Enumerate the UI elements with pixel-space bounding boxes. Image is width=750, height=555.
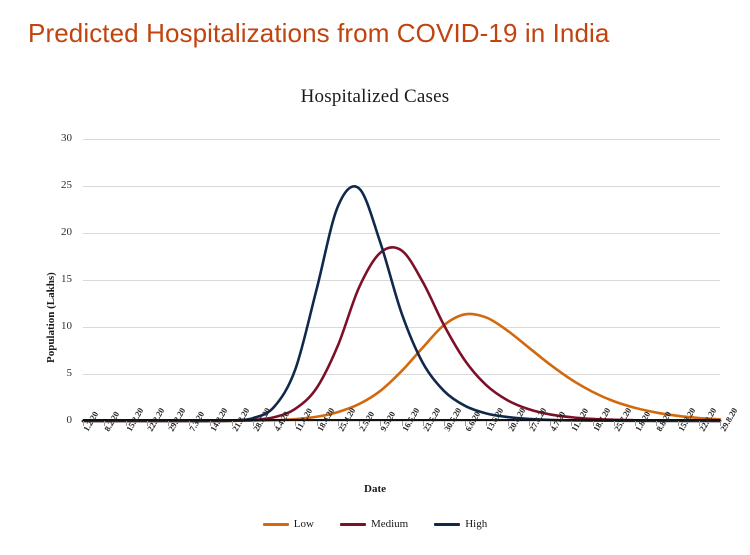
y-axis-tick-label: 0 xyxy=(40,414,72,426)
legend-label: Low xyxy=(294,518,314,530)
series-line-medium xyxy=(83,247,720,421)
y-axis-title: Population (Lakhs) xyxy=(45,272,57,363)
slide-canvas: Predicted Hospitalizations from COVID-19… xyxy=(0,0,750,555)
y-axis-tick-label: 25 xyxy=(40,179,72,191)
series-line-high xyxy=(83,186,720,421)
legend-item-high[interactable]: High xyxy=(434,518,487,530)
chart-legend: LowMediumHigh xyxy=(0,518,750,530)
y-axis-tick-label: 20 xyxy=(40,226,72,238)
chart-series-layer xyxy=(83,139,720,421)
legend-swatch-icon xyxy=(263,523,289,526)
legend-item-medium[interactable]: Medium xyxy=(340,518,408,530)
legend-swatch-icon xyxy=(434,523,460,526)
y-axis-tick-label: 30 xyxy=(40,132,72,144)
legend-label: High xyxy=(465,518,487,530)
legend-swatch-icon xyxy=(340,523,366,526)
plot-area: Population (Lakhs) xyxy=(83,139,720,421)
x-axis-title: Date xyxy=(0,483,750,495)
x-axis-tick-labels: 1.2.208.2.2015.2.2022.2.2029.2.207.3.201… xyxy=(83,428,720,478)
legend-item-low[interactable]: Low xyxy=(263,518,314,530)
legend-label: Medium xyxy=(371,518,408,530)
y-axis-tick-label: 5 xyxy=(40,367,72,379)
